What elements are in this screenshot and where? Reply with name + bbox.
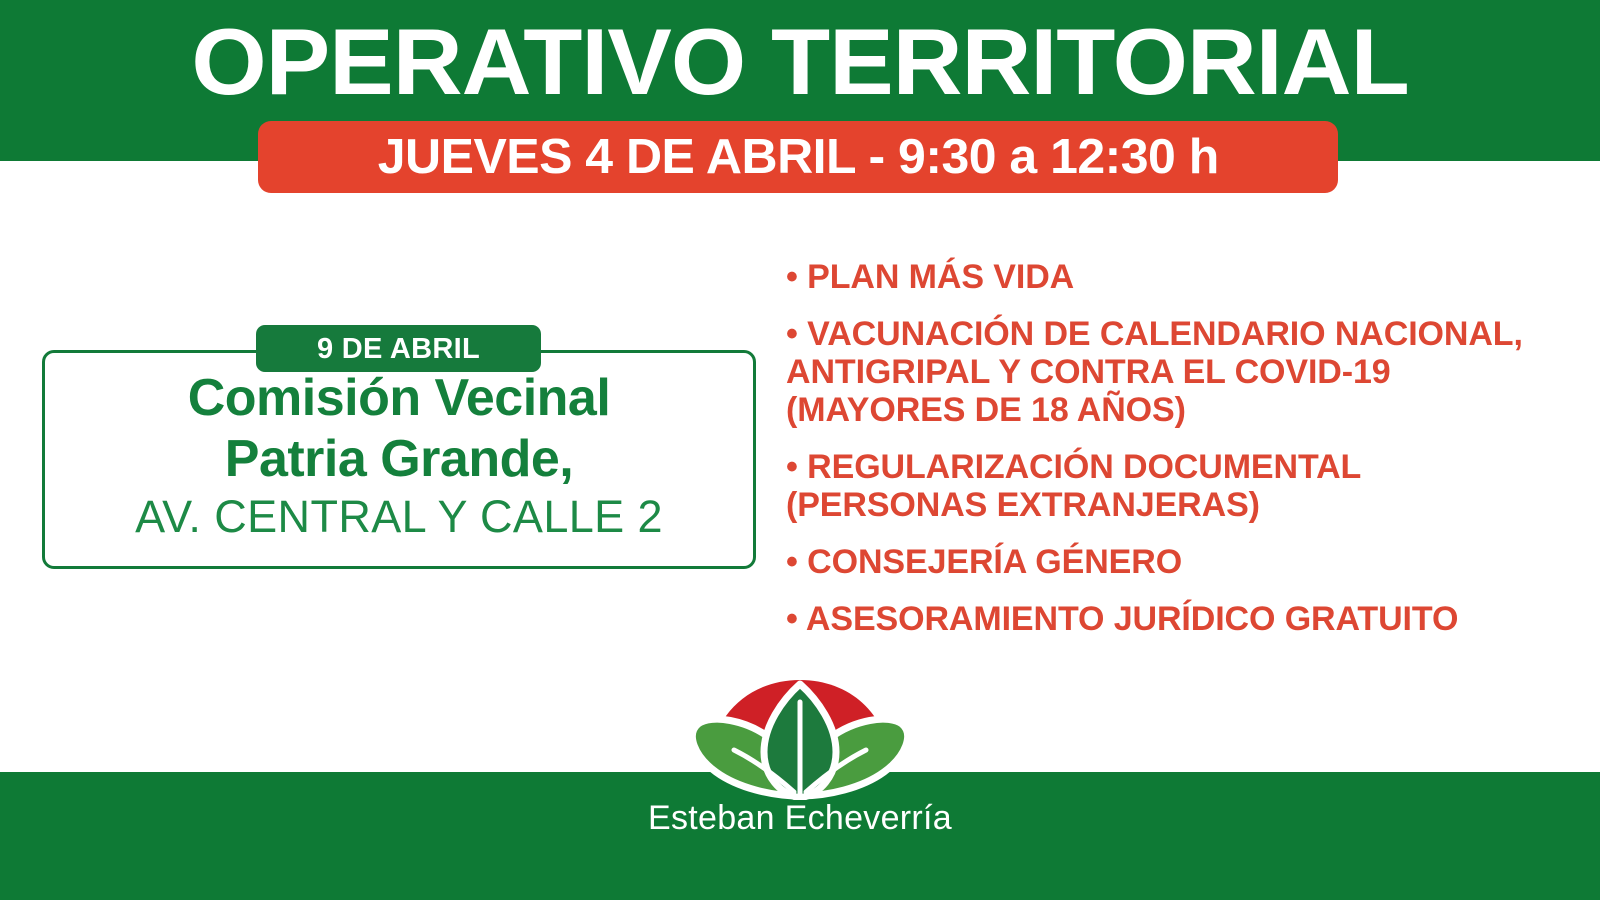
services-list: • PLAN MÁS VIDA • VACUNACIÓN DE CALENDAR… <box>786 258 1546 657</box>
list-item: • VACUNACIÓN DE CALENDARIO NACIONAL, ANT… <box>786 315 1546 429</box>
brand-logo: Esteban Echeverría <box>626 676 974 856</box>
venue-name-line1: Comisión Vecinal <box>42 366 756 427</box>
list-item: • REGULARIZACIÓN DOCUMENTAL (PERSONAS EX… <box>786 448 1546 524</box>
poster-canvas: OPERATIVO TERRITORIAL JUEVES 4 DE ABRIL … <box>0 0 1600 900</box>
bullet-icon: • <box>786 258 798 296</box>
bullet-icon: • <box>786 315 798 353</box>
list-item-label: ASESORAMIENTO JURÍDICO GRATUITO <box>806 600 1458 638</box>
list-item-label: VACUNACIÓN DE CALENDARIO NACIONAL, ANTIG… <box>786 315 1523 429</box>
date-badge: 9 DE ABRIL <box>256 325 541 372</box>
venue-name-line2: Patria Grande, <box>42 427 756 488</box>
list-item-label: PLAN MÁS VIDA <box>807 258 1074 296</box>
date-ribbon-text: JUEVES 4 DE ABRIL - 9:30 a 12:30 h <box>378 131 1219 183</box>
list-item-label: REGULARIZACIÓN DOCUMENTAL (PERSONAS EXTR… <box>786 448 1361 524</box>
bullet-icon: • <box>786 448 798 486</box>
location-card-body: Comisión Vecinal Patria Grande, AV. CENT… <box>42 366 756 544</box>
brand-name: Esteban Echeverría <box>626 798 974 838</box>
date-badge-label: 9 DE ABRIL <box>317 334 480 364</box>
venue-address: AV. CENTRAL Y CALLE 2 <box>42 488 756 544</box>
list-item: • ASESORAMIENTO JURÍDICO GRATUITO <box>786 600 1546 638</box>
leaf-flower-logo-icon <box>676 676 924 800</box>
page-title: OPERATIVO TERRITORIAL <box>0 8 1600 116</box>
list-item: • PLAN MÁS VIDA <box>786 258 1546 296</box>
bullet-icon: • <box>786 543 798 581</box>
date-ribbon: JUEVES 4 DE ABRIL - 9:30 a 12:30 h <box>258 121 1338 193</box>
bullet-icon: • <box>786 600 798 638</box>
list-item-label: CONSEJERÍA GÉNERO <box>807 543 1182 581</box>
list-item: • CONSEJERÍA GÉNERO <box>786 543 1546 581</box>
